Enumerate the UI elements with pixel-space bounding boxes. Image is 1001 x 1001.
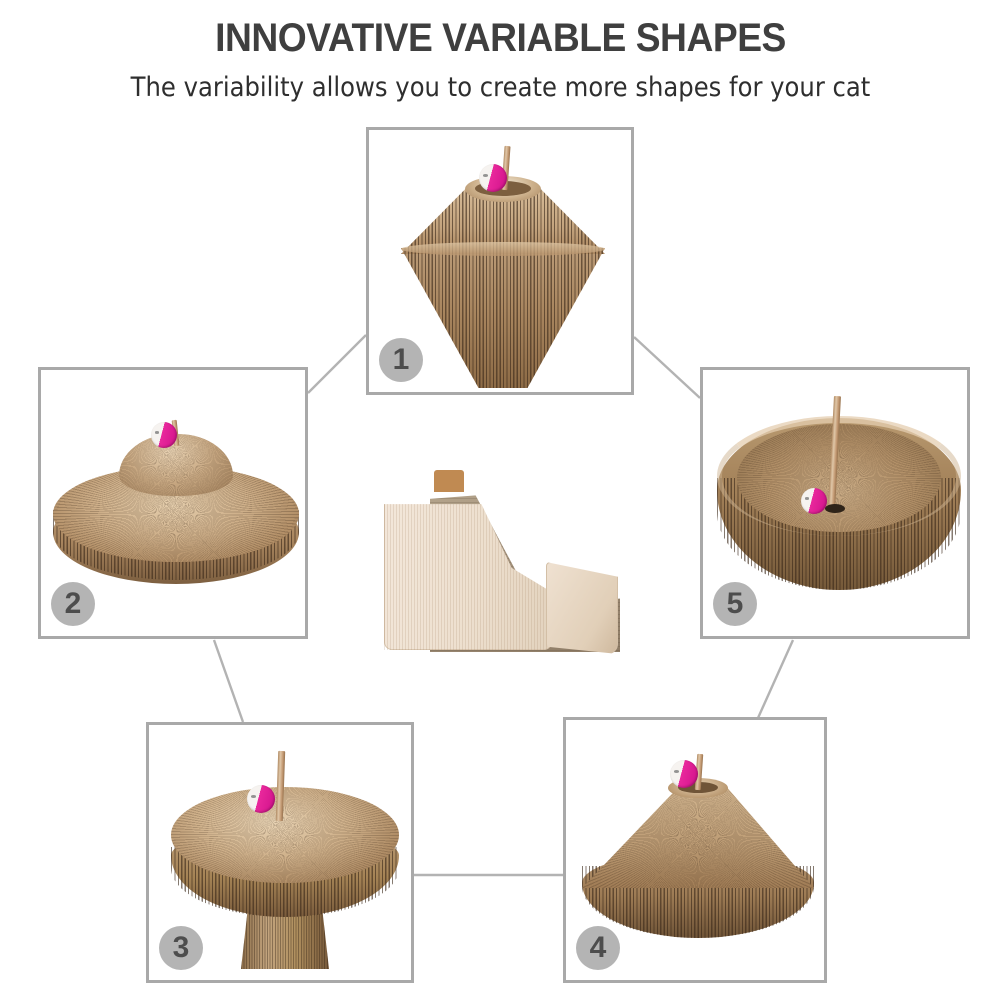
center-folded-product	[378, 470, 628, 670]
folded-wave-front-texture	[384, 498, 552, 650]
folded-wave-back-tab	[434, 470, 464, 492]
shape-frame-1[interactable]: 1	[366, 127, 634, 395]
mushroom-cap-top	[171, 787, 399, 883]
toy-ball	[670, 760, 698, 788]
toy-ball	[479, 164, 507, 192]
shape-frame-2[interactable]: 2	[38, 367, 308, 639]
toy-ball	[247, 785, 275, 813]
folded-wave-end-cap	[546, 562, 618, 654]
shape-frame-4[interactable]: 4	[563, 717, 827, 983]
cone-upper-slope	[582, 786, 814, 888]
infographic-page: INNOVATIVE VARIABLE SHAPES The variabili…	[0, 0, 1001, 1001]
folded-wave-notch	[404, 497, 420, 504]
connector-1-to-5	[634, 337, 700, 398]
connector-2-to-1	[308, 335, 366, 393]
shape-badge-5: 5	[713, 582, 757, 626]
shape-frame-5[interactable]: 5	[700, 367, 970, 639]
shape-badge-3: 3	[159, 926, 203, 970]
toy-ball	[801, 488, 827, 514]
stick-base	[825, 504, 845, 513]
diamond-lower-cone	[401, 248, 605, 388]
connector-5-to-4	[758, 640, 793, 718]
shape-frame-3[interactable]: 3	[146, 722, 414, 983]
shape-badge-1: 1	[379, 338, 423, 382]
shape-badge-4: 4	[576, 926, 620, 970]
shape-badge-2: 2	[51, 582, 95, 626]
toy-ball	[151, 422, 177, 448]
diamond-equator-highlight	[401, 242, 605, 256]
connector-2-to-3	[214, 640, 243, 722]
